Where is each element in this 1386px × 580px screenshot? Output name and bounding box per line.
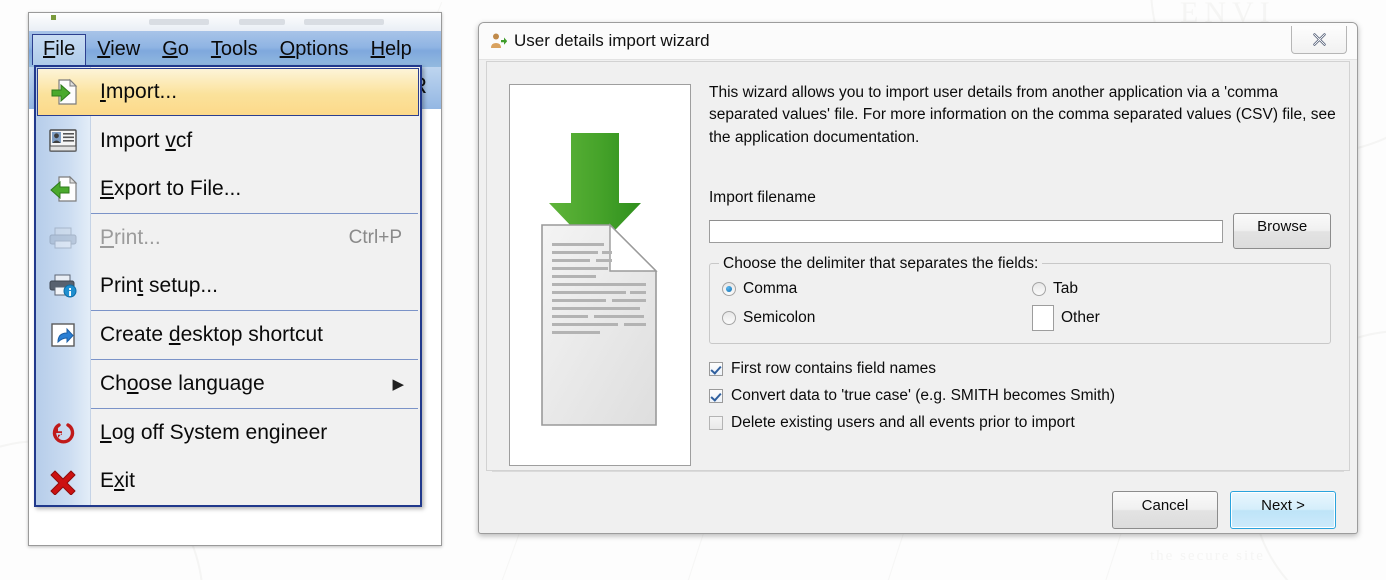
import-filename-label: Import filename [709,189,1331,207]
app-title-dot [51,15,56,20]
menu-item-print-setup[interactable]: Print setup... [36,262,420,310]
illustration-panel [509,84,691,466]
no-icon-placeholder [36,360,90,408]
menu-item-export-to-file-label: Export to File... [90,177,420,201]
menu-item-print-label: Print... [90,226,349,250]
cancel-button[interactable]: Cancel [1112,491,1218,529]
radio-comma-label: Comma [743,280,797,298]
footer-divider [492,471,1344,472]
menubar-item-tools[interactable]: Tools [200,35,269,63]
radio-comma-indicator [722,282,736,296]
menu-item-import-label: Import... [90,80,418,104]
app-title-bar [29,13,441,32]
dialog-footer: Cancel Next > [486,471,1350,527]
import-document-icon [38,69,90,115]
radio-semicolon-label: Semicolon [743,309,815,327]
checkbox-first-row-field-names[interactable]: First row contains field names [709,360,1331,378]
shortcut-arrow-icon [36,311,90,359]
radio-tab[interactable]: Tab [1032,280,1318,298]
other-delimiter-input[interactable] [1032,305,1054,331]
menu-item-print-setup-label: Print setup... [90,274,420,298]
submenu-chevron-right-icon: ▶ [392,375,420,393]
checkbox-delete-existing-users[interactable]: Delete existing users and all events pri… [709,414,1331,432]
printer-setup-icon [36,262,90,310]
checkbox-first-row-field-names-indicator [709,362,723,376]
checkbox-first-row-field-names-label: First row contains field names [731,360,936,378]
dialog-body: This wizard allows you to import user de… [486,61,1350,471]
menu-item-import[interactable]: Import... [37,68,419,116]
menu-item-import-vcf-label: Import vcf [90,129,420,153]
export-document-icon [36,165,90,213]
menu-item-print-shortcut: Ctrl+P [349,227,420,249]
checkbox-true-case[interactable]: Convert data to 'true case' (e.g. SMITH … [709,387,1331,405]
menubar-item-view[interactable]: View [86,35,151,63]
menu-item-choose-language[interactable]: Choose language ▶ [36,360,420,408]
import-options-checkboxes: First row contains field names Convert d… [709,360,1331,432]
menu-item-print[interactable]: Print... Ctrl+P [36,214,420,262]
wizard-content: This wizard allows you to import user de… [709,82,1331,458]
menu-bar[interactable]: File View Go Tools Options Help [29,31,441,68]
import-wizard-dialog: User details import wizard [478,22,1358,534]
checkbox-true-case-label: Convert data to 'true case' (e.g. SMITH … [731,387,1115,405]
illustration-svg [510,85,692,465]
dialog-title: User details import wizard [514,31,710,51]
other-delimiter-label: Other [1061,309,1100,327]
radio-tab-label: Tab [1053,280,1078,298]
user-import-icon [489,32,507,50]
menu-item-choose-language-label: Choose language [90,372,392,396]
radio-comma[interactable]: Comma [722,280,1032,298]
menu-item-log-off[interactable]: Log off System engineer [36,409,420,457]
next-button[interactable]: Next > [1230,491,1336,529]
menubar-item-help[interactable]: Help [360,35,423,63]
menu-item-export-to-file[interactable]: Export to File... [36,165,420,213]
exit-cross-icon [36,457,90,505]
import-filename-input[interactable] [709,220,1223,243]
menubar-item-file-label: ile [55,38,75,60]
delimiter-group-title: Choose the delimiter that separates the … [719,255,1042,273]
file-dropdown-menu: Import... Import vcf [34,65,422,507]
menubar-item-file[interactable]: File [32,34,86,65]
checkbox-delete-existing-users-label: Delete existing users and all events pri… [731,414,1075,432]
checkbox-delete-existing-users-indicator [709,416,723,430]
menubar-item-go[interactable]: Go [151,35,200,63]
printer-icon [36,214,90,262]
application-window: File View Go Tools Options Help R [28,12,442,546]
menu-item-exit[interactable]: Exit [36,457,420,505]
import-filename-row: Browse [709,213,1331,249]
radio-tab-indicator [1032,282,1046,296]
menu-item-log-off-label: Log off System engineer [90,421,420,445]
vcard-icon [36,117,90,165]
intro-text: This wizard allows you to import user de… [709,82,1345,149]
close-icon[interactable] [1291,26,1347,54]
menu-item-create-desktop-shortcut-label: Create desktop shortcut [90,323,420,347]
footer-buttons: Cancel Next > [1112,491,1336,529]
logoff-icon [36,409,90,457]
delimiter-options: Comma Tab Semicolon Other [722,280,1318,331]
menu-item-create-desktop-shortcut[interactable]: Create desktop shortcut [36,311,420,359]
browse-button[interactable]: Browse [1233,213,1331,249]
menubar-item-options[interactable]: Options [269,35,360,63]
radio-semicolon-indicator [722,311,736,325]
close-glyph [1312,32,1327,47]
screen: ENVI the secure site File View Go Tools … [0,0,1386,580]
menu-item-exit-label: Exit [90,469,420,493]
radio-semicolon[interactable]: Semicolon [722,305,1032,331]
delimiter-group: Choose the delimiter that separates the … [709,263,1331,344]
menu-item-import-vcf[interactable]: Import vcf [36,117,420,165]
other-delimiter-row[interactable]: Other [1032,305,1318,331]
dialog-title-bar: User details import wizard [479,23,1357,60]
green-arrow-document-icon [510,85,690,465]
checkbox-true-case-indicator [709,389,723,403]
